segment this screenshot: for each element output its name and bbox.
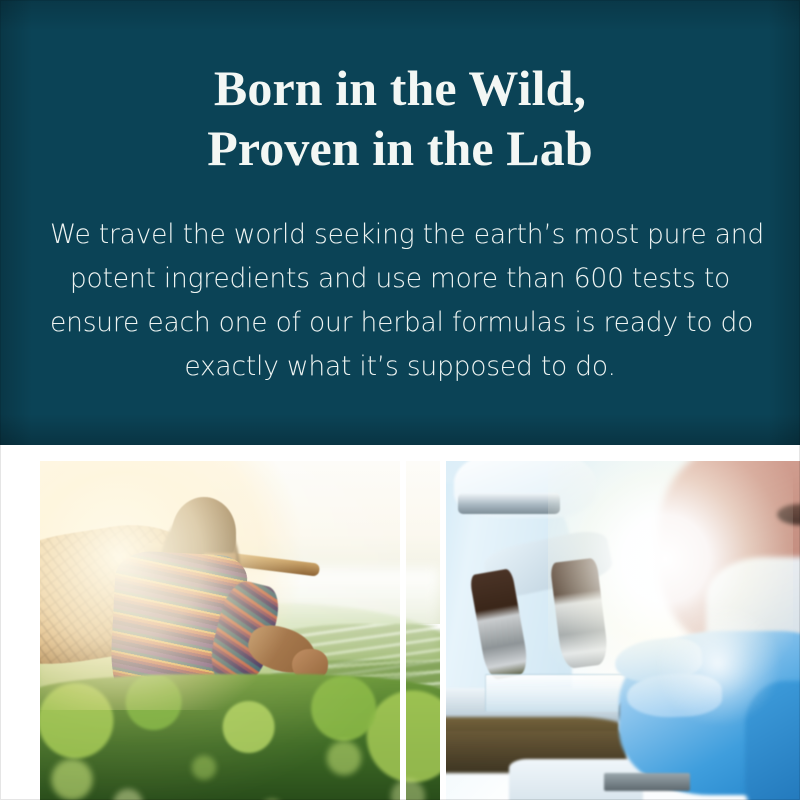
microscope-collar-ring (458, 493, 560, 514)
headline-line-1: Born in the Wild, (0, 58, 800, 118)
body-copy: We travel the world seeking the earth’s … (50, 213, 750, 389)
headline-panel: Born in the Wild, Proven in the Lab We t… (0, 0, 800, 445)
headline-line-2: Proven in the Lab (0, 118, 800, 178)
secondary-flare (651, 603, 785, 724)
body-copy-line-4: exactly what it’s supposed to do. (50, 345, 750, 389)
body-copy-line-2: potent ingredients and use more than 600… (50, 257, 750, 301)
tea-harvest-photo (40, 461, 440, 800)
photo-divider (400, 445, 406, 800)
slide-on-base (604, 773, 691, 791)
body-copy-line-3: ensure each one of our herbal formulas i… (50, 301, 750, 345)
body-copy-line-1: We travel the world seeking the earth’s … (50, 213, 750, 257)
microscope-lab-photo (446, 461, 800, 800)
page-title: Born in the Wild, Proven in the Lab (0, 58, 800, 178)
promo-card: Born in the Wild, Proven in the Lab We t… (0, 0, 800, 800)
warm-color-grade (40, 461, 440, 800)
